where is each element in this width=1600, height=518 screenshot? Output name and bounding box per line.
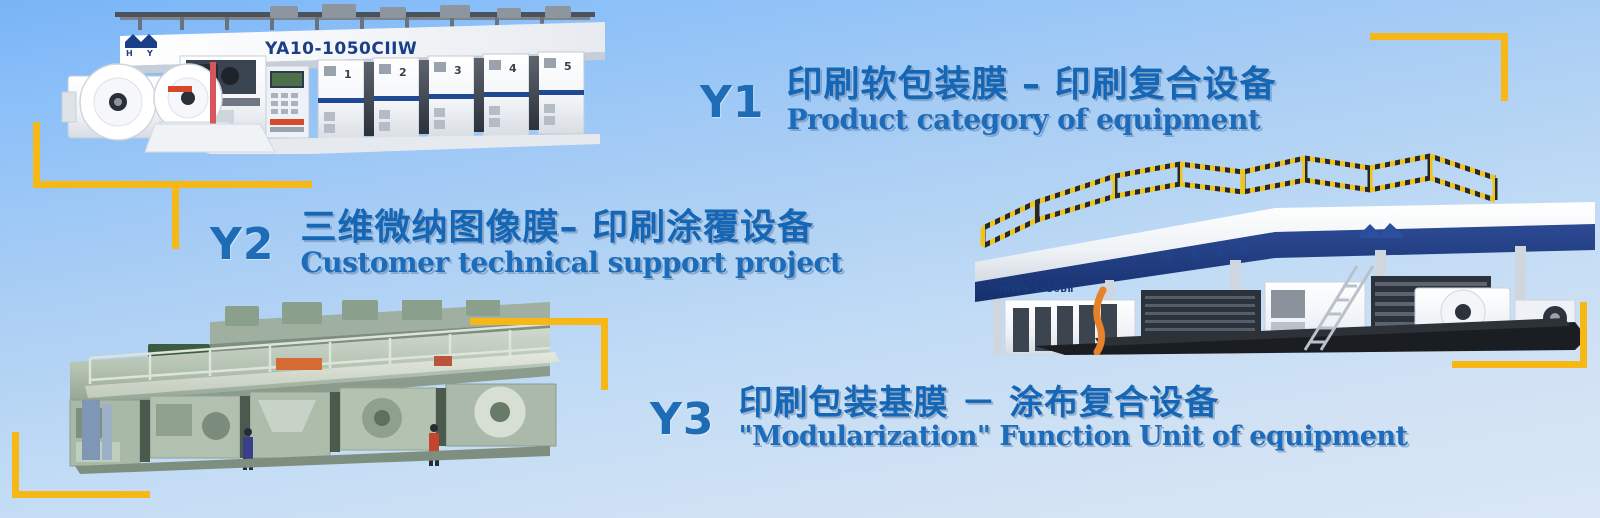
svg-text:H: H [126, 49, 133, 58]
machine-image-base-film-coating-line [30, 300, 575, 480]
bracket-y3-vertical [601, 318, 608, 390]
entry-y3: Y3 印刷包装基膜 － 涂布复合设备 "Modularization" Func… [650, 383, 1408, 451]
entry-y1-title-en: Product category of equipment [786, 105, 1276, 135]
entry-y3-tag: Y3 [650, 397, 714, 443]
bracket-y1-horizontal [1370, 33, 1508, 40]
svg-text:5: 5 [564, 60, 572, 73]
entry-y3-title-en: "Modularization" Function Unit of equipm… [738, 422, 1407, 451]
bracket-machine2-horizontal [1452, 361, 1587, 368]
entry-y1-tag: Y1 [700, 80, 764, 126]
svg-text:装: 装 [1239, 244, 1250, 256]
svg-text:4: 4 [509, 62, 517, 75]
machine-image-coating-laminating-machine: YATF6-1650BⅡ 华星宝装 [975, 150, 1595, 355]
machine-image-rotogravure-printing-press: YA10-1050CIIW H Y 1 2 [60, 4, 605, 169]
svg-text:YA10-1050CIIW: YA10-1050CIIW [264, 39, 417, 59]
bracket-machine3-horizontal [12, 491, 150, 498]
entry-y2-title-en: Customer technical support project [300, 248, 842, 278]
bracket-machine3-vertical [12, 432, 19, 498]
bracket-y2-horizontal [172, 181, 312, 188]
svg-text:YATF6-1650BⅡ: YATF6-1650BⅡ [996, 285, 1074, 295]
svg-text:星: 星 [1190, 249, 1199, 260]
bracket-y3-horizontal [470, 318, 608, 325]
entry-y3-title-cn: 印刷包装基膜 － 涂布复合设备 [738, 383, 1407, 423]
entry-y2: Y2 三维微纳图像膜– 印刷涂覆设备 Customer technical su… [210, 207, 843, 278]
svg-text:Y: Y [146, 49, 153, 58]
svg-text:华: 华 [1165, 251, 1174, 263]
svg-text:1: 1 [344, 68, 352, 81]
bracket-left-horizontal [33, 181, 173, 188]
svg-text:3: 3 [454, 64, 462, 77]
entry-y2-title-cn: 三维微纳图像膜– 印刷涂覆设备 [300, 207, 842, 249]
bracket-machine2-vertical [1580, 302, 1587, 368]
entry-y1: Y1 印刷软包装膜 – 印刷复合设备 Product category of e… [700, 64, 1277, 135]
bracket-y2-vertical [172, 181, 179, 249]
entry-y1-title-cn: 印刷软包装膜 – 印刷复合设备 [786, 64, 1276, 106]
bracket-left-vertical [33, 122, 40, 188]
bracket-y1-vertical [1501, 33, 1508, 101]
svg-text:2: 2 [399, 66, 407, 79]
entry-y2-tag: Y2 [210, 222, 274, 268]
promo-banner: YA10-1050CIIW H Y 1 2 [0, 0, 1600, 518]
svg-text:宝: 宝 [1215, 246, 1224, 258]
